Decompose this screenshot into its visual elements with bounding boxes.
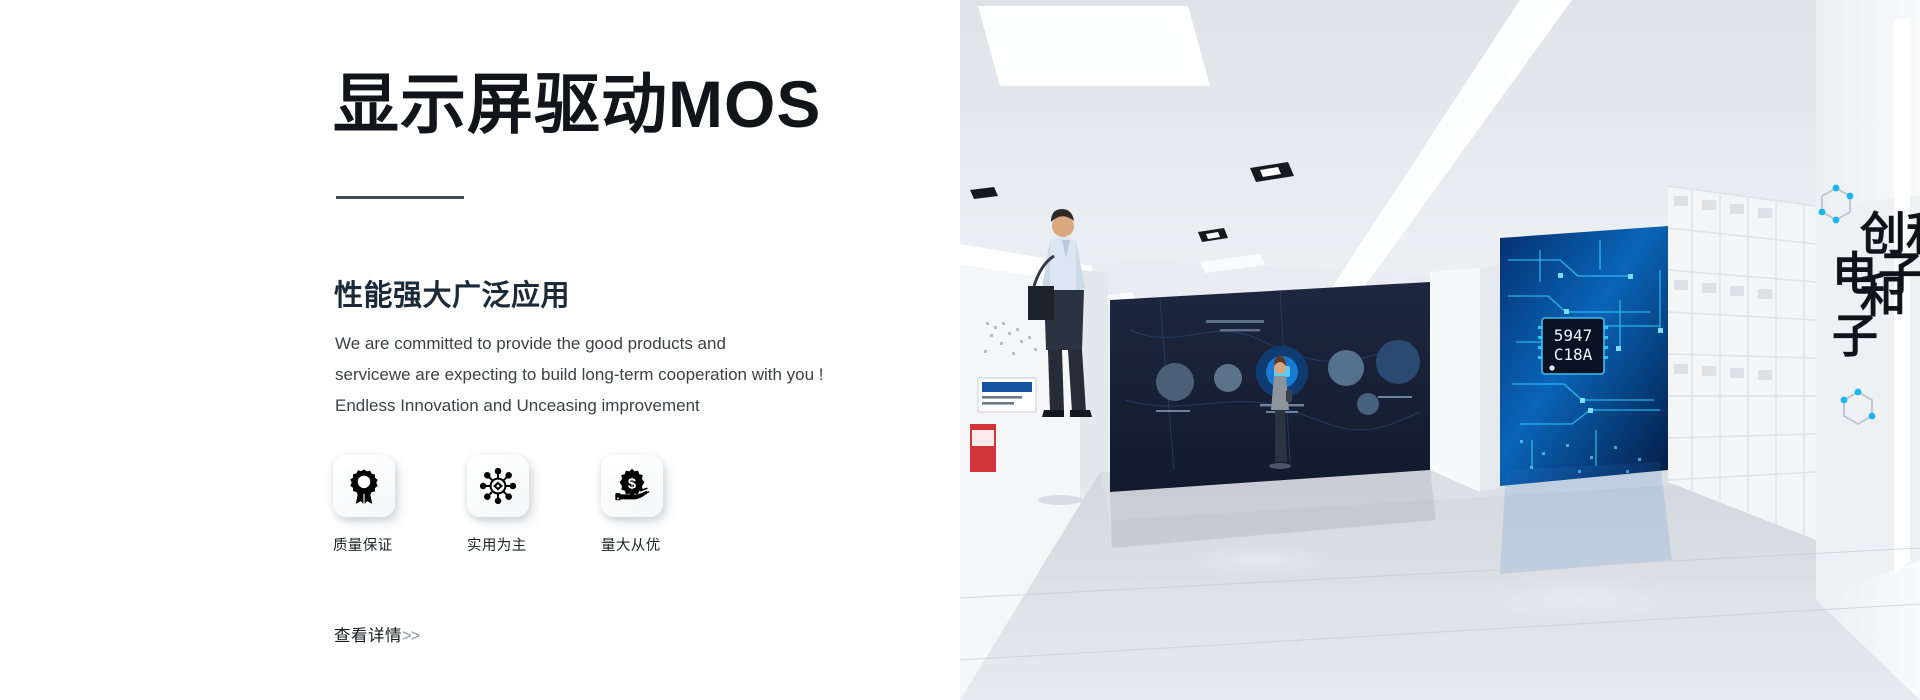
- hero-banner: 显示屏驱动MOS 性能强大广泛应用 We are committed to pr…: [0, 0, 1920, 700]
- award-ribbon-icon: [333, 455, 395, 517]
- wall-sign-line-2: 电子: [1832, 248, 1920, 300]
- showroom-illustration: 5947 C18A: [960, 0, 1920, 700]
- wall-sign-line-2b: 子: [1832, 310, 1878, 362]
- hero-subtitle: 性能强大广泛应用: [334, 272, 570, 314]
- paragraph-line-3: Endless Innovation and Unceasing improve…: [335, 390, 895, 421]
- feature-item-bulk-discount[interactable]: $ 量大从优: [601, 455, 677, 555]
- chevron-right-icon: >>: [402, 627, 419, 645]
- view-details-link[interactable]: 查看详情>>: [334, 622, 419, 646]
- page-title: 显示屏驱动MOS: [333, 70, 821, 139]
- feature-item-quality[interactable]: 质量保证: [333, 455, 409, 555]
- svg-text:$: $: [628, 476, 637, 492]
- view-details-label: 查看详情: [334, 627, 402, 645]
- hero-paragraph: We are committed to provide the good pro…: [335, 328, 895, 421]
- led-chip-label-top: 5947: [1554, 326, 1593, 345]
- feature-label: 实用为主: [467, 534, 527, 555]
- hero-text-pane: 显示屏驱动MOS 性能强大广泛应用 We are committed to pr…: [0, 0, 960, 700]
- hand-coin-icon: $: [601, 455, 663, 517]
- led-chip-label-bottom: C18A: [1554, 345, 1593, 364]
- feature-label: 量大从优: [601, 534, 661, 555]
- feature-list: 质量保证: [333, 455, 677, 555]
- feature-label: 质量保证: [333, 534, 393, 555]
- feature-item-practical[interactable]: 实用为主: [467, 455, 543, 555]
- paragraph-line-1: We are committed to provide the good pro…: [335, 328, 895, 359]
- title-divider: [336, 196, 464, 199]
- chip-network-icon: [467, 455, 529, 517]
- paragraph-line-2: servicewe are expecting to build long-te…: [335, 359, 895, 390]
- showroom-photo: 5947 C18A: [960, 0, 1920, 700]
